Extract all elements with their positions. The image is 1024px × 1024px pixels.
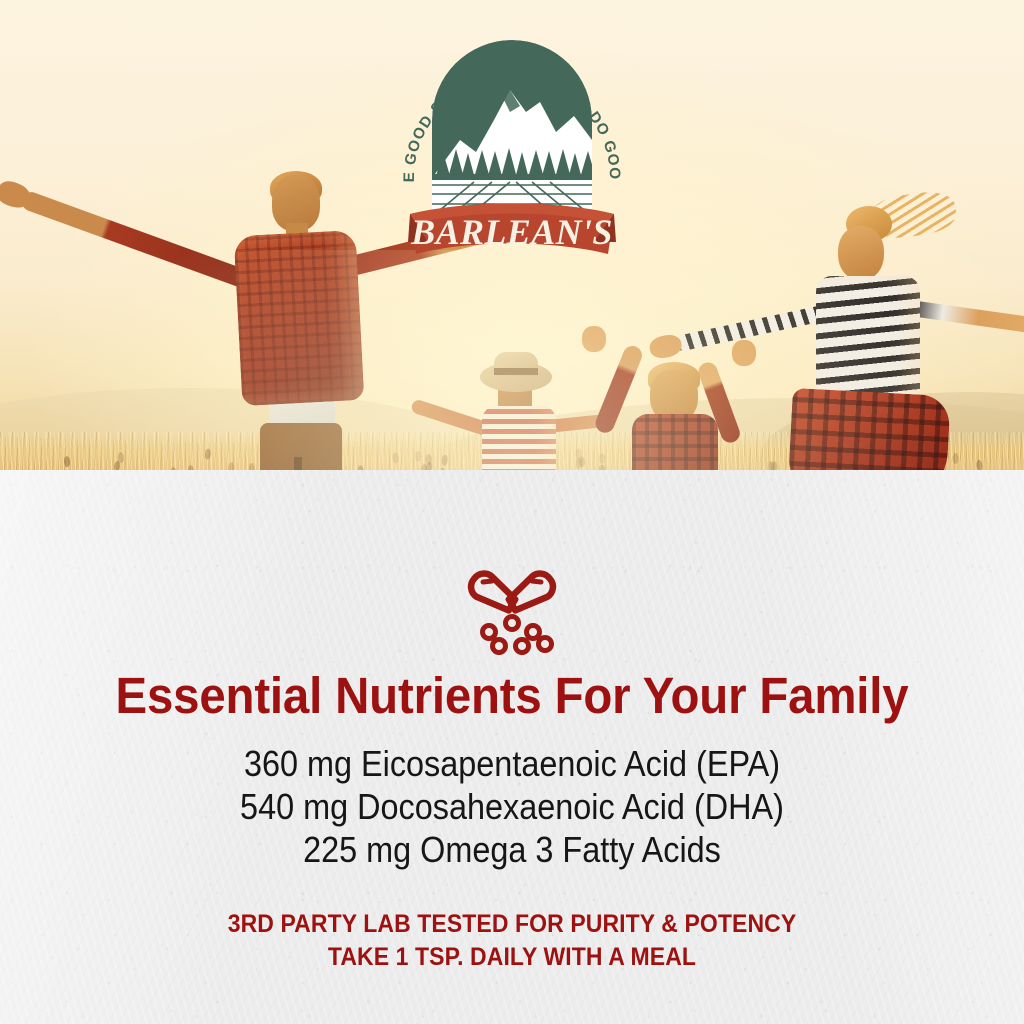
girl-sun-hat-band xyxy=(494,368,538,375)
svg-text:BARLEAN'S: BARLEAN'S xyxy=(410,212,613,252)
list-item: 540 mg Docosahexaenoic Acid (DHA) xyxy=(51,785,973,828)
lab-tested-line: 3RD PARTY LAB TESTED FOR PURITY & POTENC… xyxy=(41,908,983,941)
father-plaid-shirt xyxy=(234,230,365,406)
boy-left-hand xyxy=(582,326,606,352)
product-infographic-poster: WE MAKE GOOD STUFF SO YOU CAN DO GOOD ST… xyxy=(0,0,1024,1024)
nutrient-fact-list: 360 mg Eicosapentaenoic Acid (EPA) 540 m… xyxy=(0,742,1024,871)
mother-head xyxy=(838,226,884,280)
capsules-granules-icon xyxy=(462,562,562,662)
list-item: 360 mg Eicosapentaenoic Acid (EPA) xyxy=(51,742,973,785)
usage-footnote: 3RD PARTY LAB TESTED FOR PURITY & POTENC… xyxy=(0,908,1024,974)
mother-right-arm xyxy=(909,300,1024,337)
mother-striped-top xyxy=(816,276,920,404)
page-title: Essential Nutrients For Your Family xyxy=(36,666,988,725)
dosage-line: TAKE 1 TSP. DAILY WITH A MEAL xyxy=(41,941,983,974)
barleans-logo[interactable]: WE MAKE GOOD STUFF SO YOU CAN DO GOOD ST… xyxy=(398,28,626,263)
list-item: 225 mg Omega 3 Fatty Acids xyxy=(51,828,973,871)
